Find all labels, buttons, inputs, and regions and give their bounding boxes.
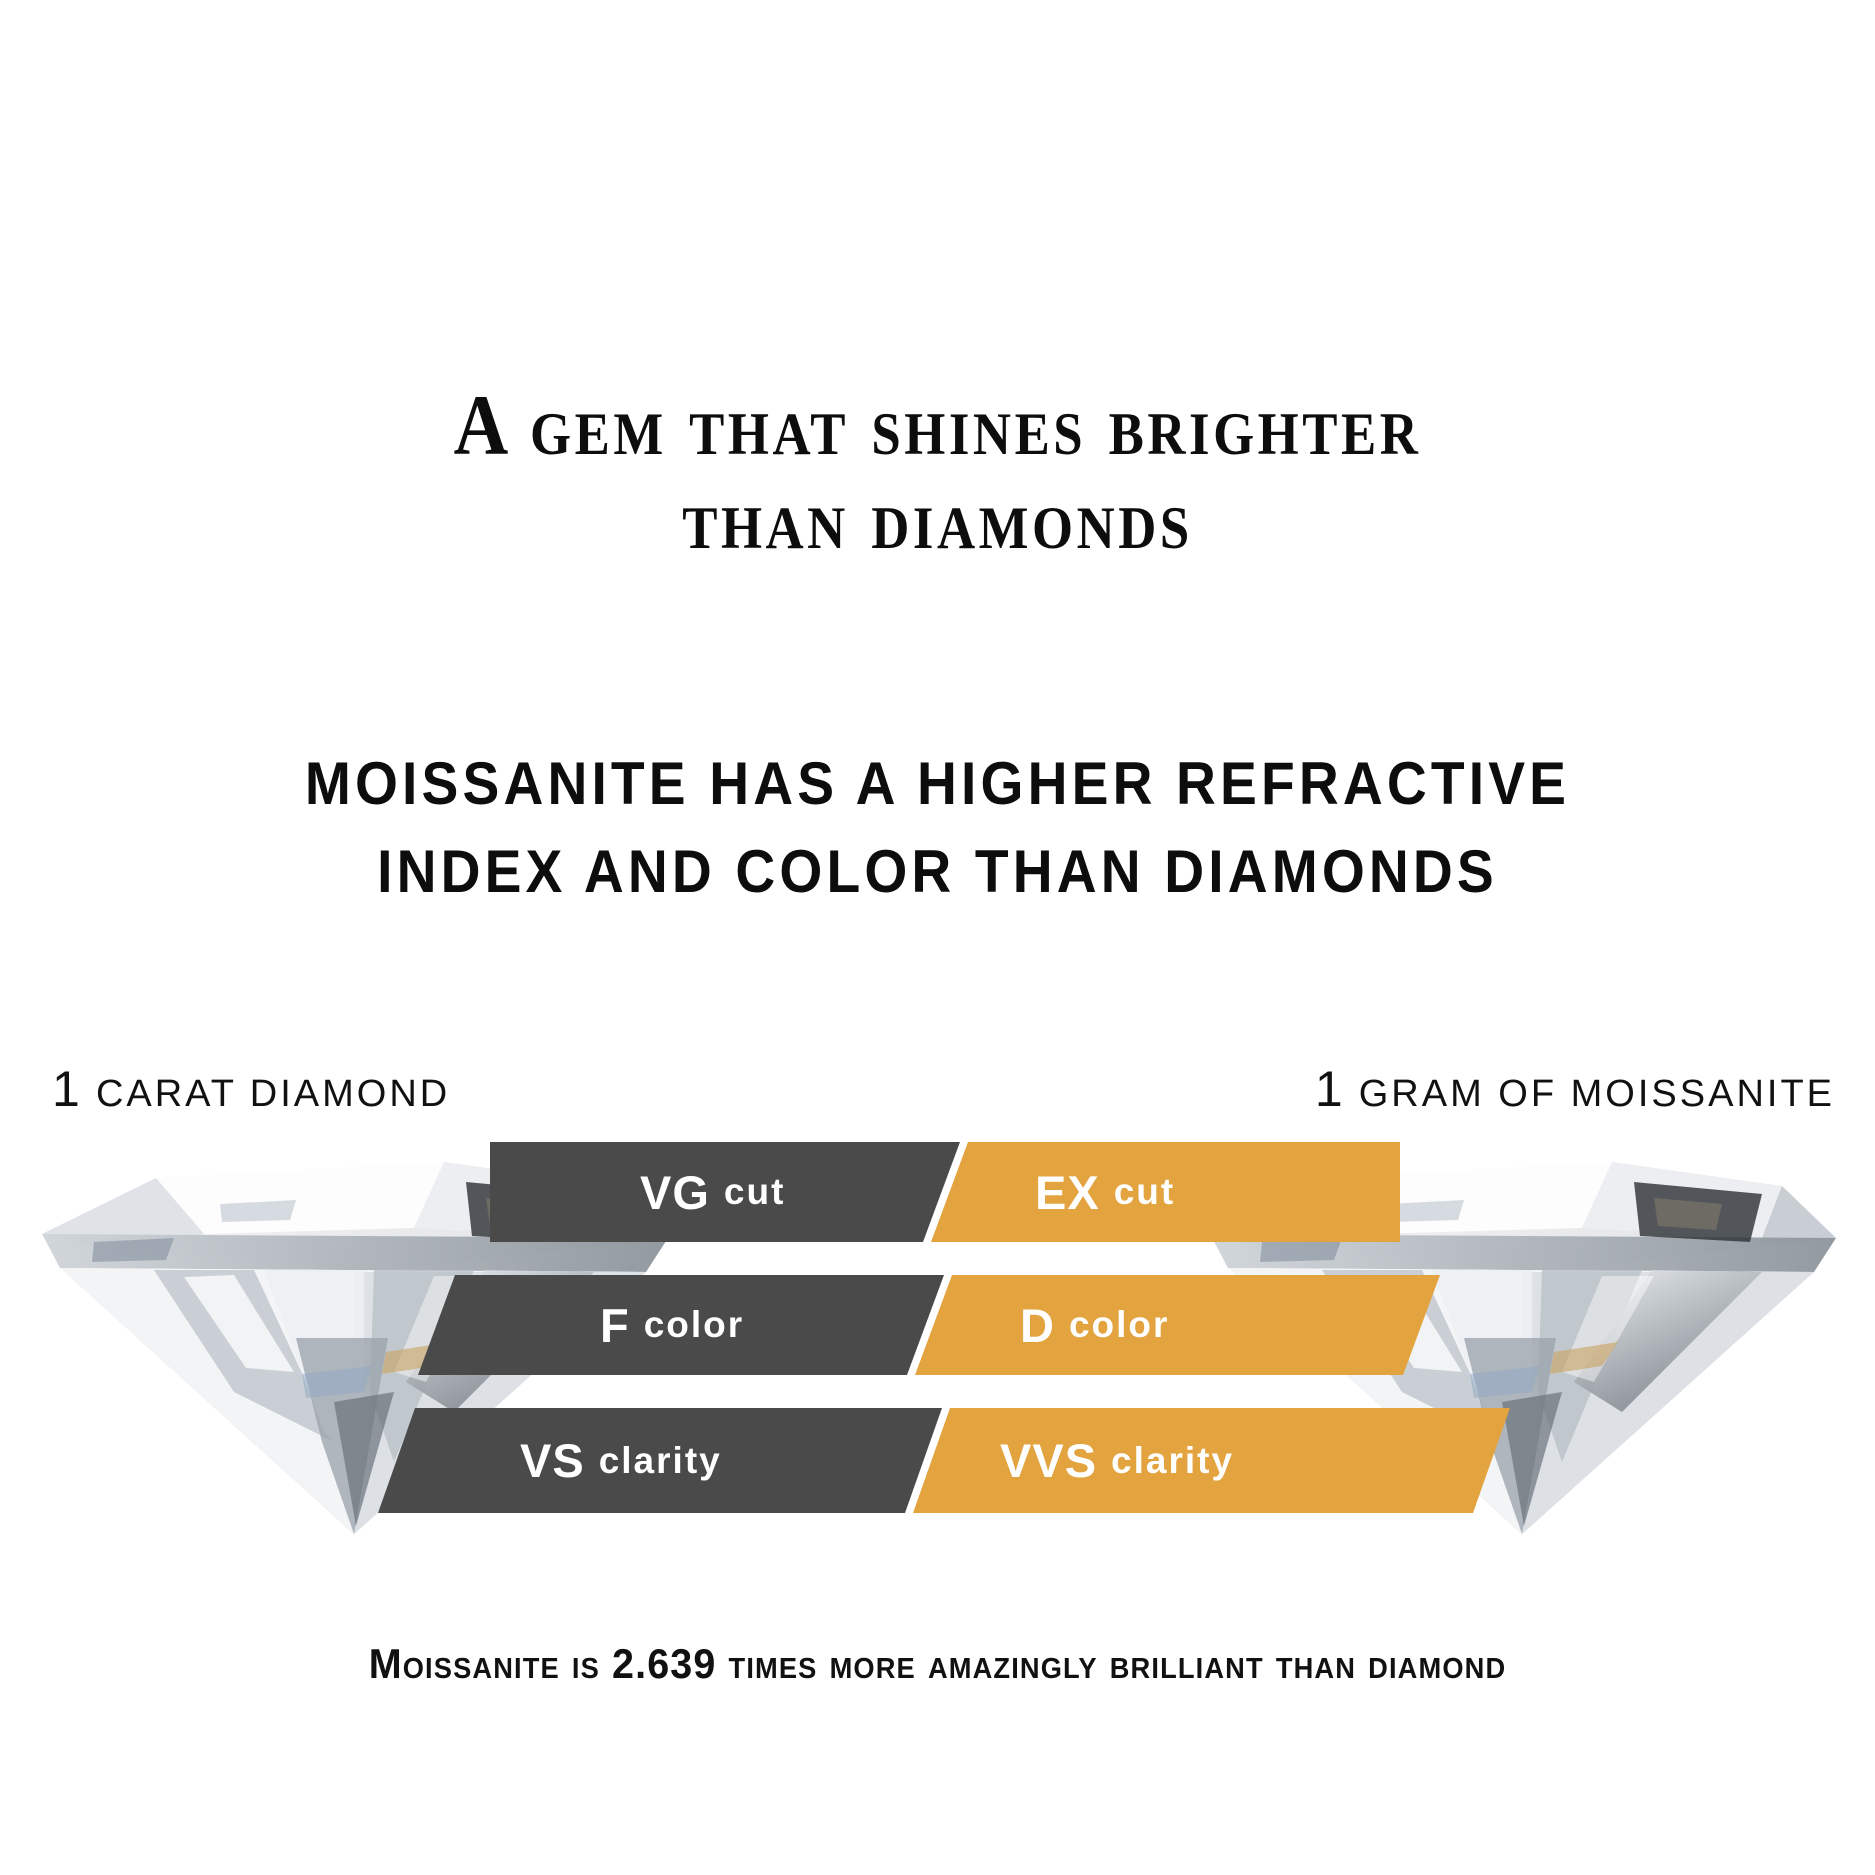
headline-line-2: than diamonds (113, 472, 1763, 566)
left-caption-text: carat diamond (96, 1073, 450, 1115)
row-clarity-right-attr: clarity (1097, 1440, 1234, 1482)
infographic-page: A gem that shines brighter than diamonds… (0, 0, 1875, 1875)
page-subtitle: Moissanite has a higher refractive index… (75, 740, 1800, 916)
row-cut-right-grade: EX (1035, 1165, 1100, 1220)
row-color-left-grade: F (600, 1298, 630, 1353)
row-color-left-attr: color (630, 1304, 744, 1346)
right-caption-number: 1 (1315, 1061, 1345, 1117)
right-gem-caption: 1 gram of moissanite (1315, 1060, 1835, 1118)
row-clarity-left-label: VS clarity (520, 1408, 722, 1513)
row-cut-right-attr: cut (1100, 1171, 1176, 1213)
row-clarity-right-label: VVS clarity (1000, 1408, 1234, 1513)
row-cut-right-label: EX cut (1035, 1142, 1175, 1242)
comparison-section: 1 carat diamond 1 gram of moissanite (0, 1060, 1875, 1560)
row-color-right-label: D color (1020, 1275, 1169, 1375)
comparison-row-color: F color D color (0, 1275, 1875, 1375)
left-caption-number: 1 (52, 1061, 82, 1117)
headline-line-1: A gem that shines brighter (113, 378, 1763, 472)
row-clarity-left-attr: clarity (585, 1440, 722, 1482)
comparison-row-cut: VG cut EX cut (0, 1142, 1875, 1242)
subheadline-line-1: Moissanite has a higher refractive (75, 740, 1800, 828)
right-caption-text: gram of moissanite (1359, 1073, 1835, 1115)
subheadline-line-2: index and color than diamonds (75, 828, 1800, 916)
row-cut-left-attr: cut (710, 1171, 786, 1213)
row-clarity-right-grade: VVS (1000, 1433, 1097, 1488)
row-cut-left-label: VG cut (640, 1142, 785, 1242)
footer-caption: Moissanite is 2.639 times more amazingly… (56, 1640, 1819, 1688)
row-color-right-shape (915, 1275, 1440, 1375)
row-color-left-label: F color (600, 1275, 744, 1375)
row-clarity-left-grade: VS (520, 1433, 585, 1488)
row-color-right-attr: color (1055, 1304, 1169, 1346)
row-cut-left-grade: VG (640, 1165, 710, 1220)
left-gem-caption: 1 carat diamond (52, 1060, 450, 1118)
page-title: A gem that shines brighter than diamonds (113, 378, 1763, 566)
comparison-bars: VG cut EX cut F color D (0, 1142, 1875, 1542)
row-color-right-grade: D (1020, 1298, 1055, 1353)
comparison-row-clarity: VS clarity VVS clarity (0, 1408, 1875, 1513)
